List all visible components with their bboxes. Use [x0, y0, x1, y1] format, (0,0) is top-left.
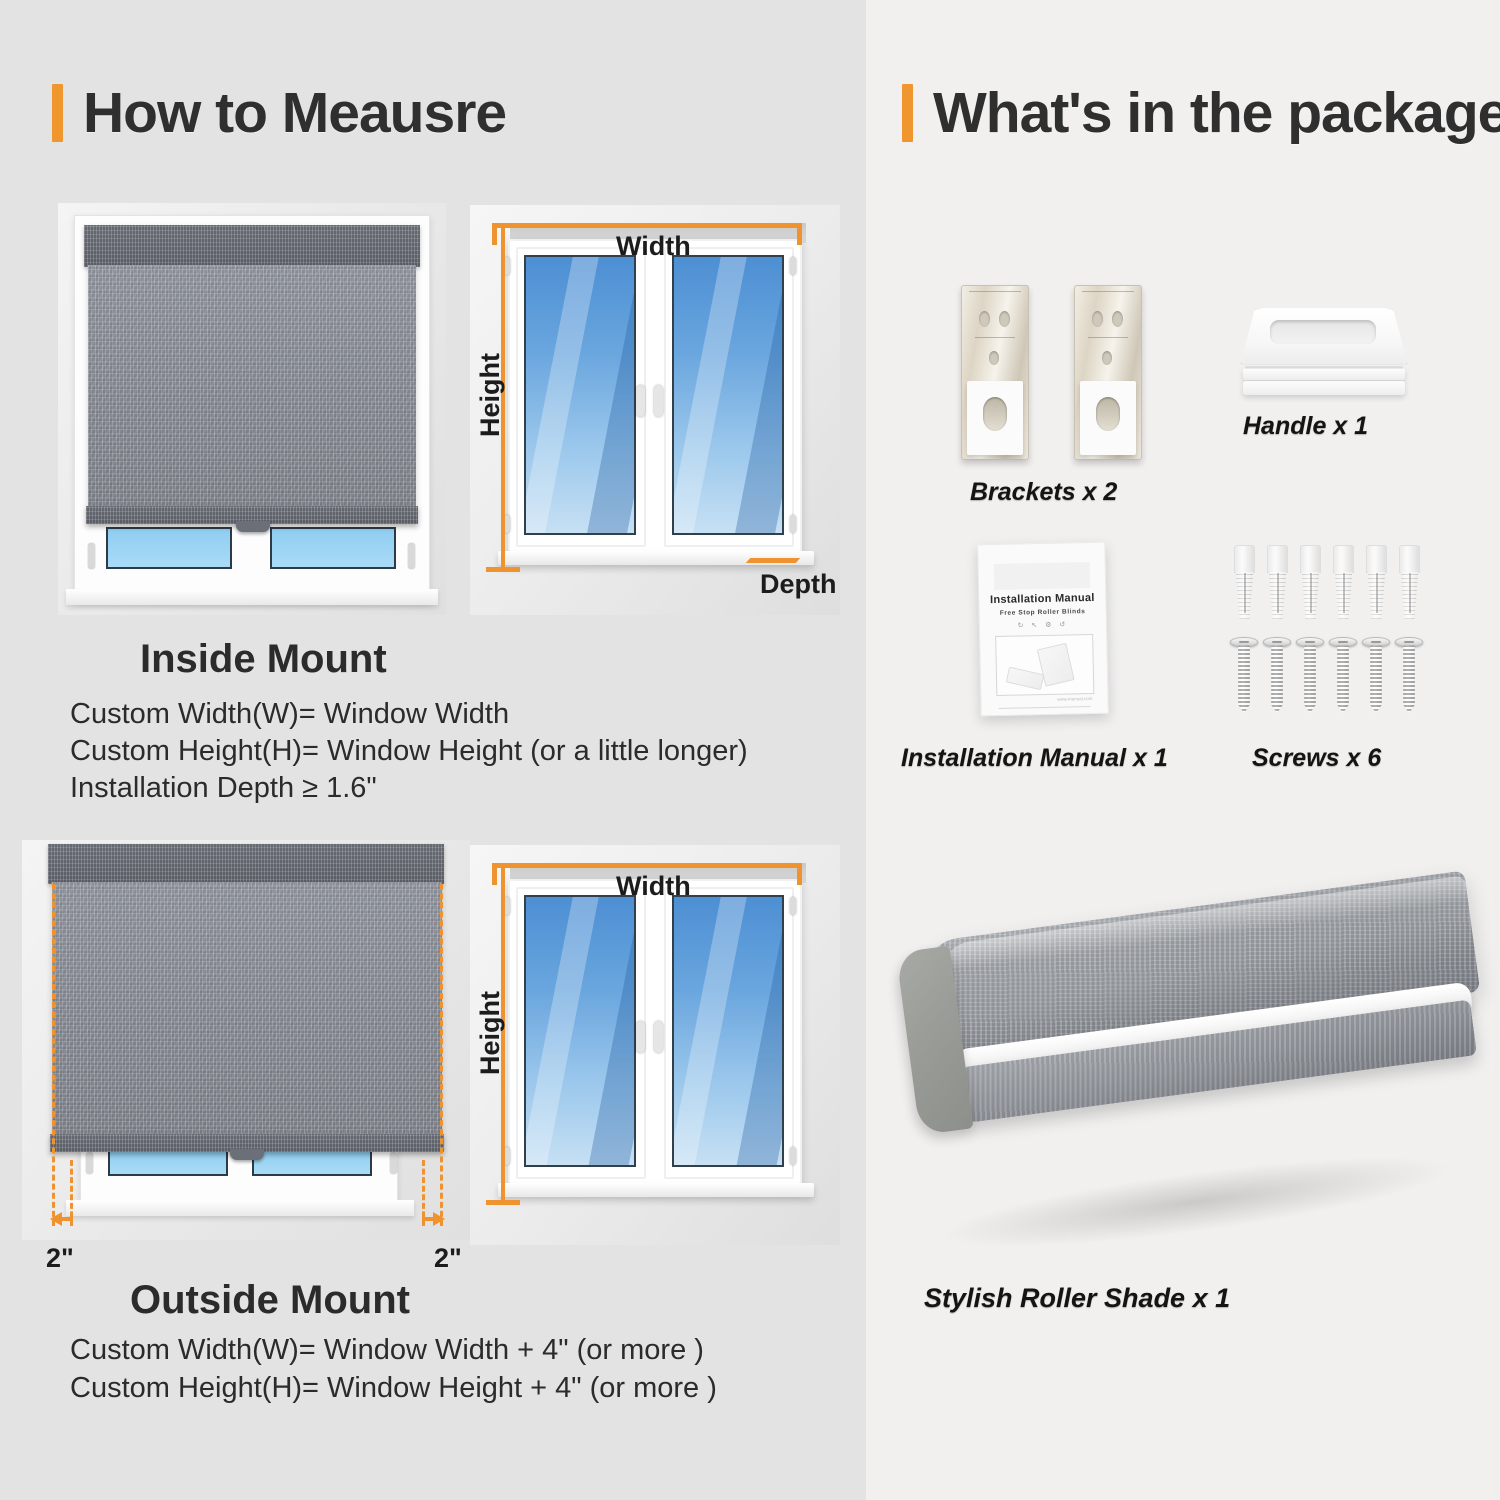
- roller-shade-product: [896, 880, 1476, 1260]
- bracket-hole-2: [1112, 311, 1123, 327]
- manual-footer-rule: [999, 706, 1091, 709]
- anchor-collar: [1234, 545, 1255, 573]
- height-label: Height: [475, 353, 506, 437]
- window-pane-left: [524, 895, 636, 1167]
- anchor-split-line: [1277, 573, 1279, 613]
- height-measure-tick-bottom: [486, 567, 520, 572]
- screw-slot: [1404, 641, 1415, 643]
- screw-1: [1235, 637, 1253, 713]
- wall-anchor-5: [1366, 545, 1387, 619]
- width-label: Width: [616, 231, 691, 262]
- installation-manual-label: Installation Manual x 1: [901, 744, 1168, 773]
- overhang-dash-right-outer: [440, 884, 443, 1226]
- outside-mount-illustration: [22, 840, 470, 1240]
- brackets-label: Brackets x 2: [970, 478, 1117, 507]
- infographic-stage: How to Meausre: [0, 0, 1500, 1500]
- anchor-collar: [1267, 545, 1288, 573]
- width-measure-line: [492, 223, 802, 228]
- screws-label: Screws x 6: [1252, 744, 1381, 773]
- handle-part: [1240, 308, 1408, 396]
- handle-base-upper: [1243, 368, 1404, 380]
- bracket-fold-line: [1088, 337, 1128, 338]
- roller-shade-label: Stylish Roller Shade x 1: [924, 1283, 1230, 1314]
- window-handle-left-icon: [88, 543, 95, 569]
- width-measure-tick-left: [492, 863, 497, 885]
- manual-illustration-box: [995, 634, 1094, 696]
- glass-gloss: [524, 895, 601, 1167]
- glass-gloss: [672, 895, 749, 1167]
- package-heading-text: What's in the package: [933, 80, 1500, 146]
- glass-pane-right: [270, 527, 396, 569]
- handle-base-lower: [1243, 381, 1404, 395]
- shade-cassette: [48, 844, 444, 884]
- window-sill: [66, 589, 438, 605]
- window-handle-right-icon: [408, 543, 415, 569]
- width-measure-line: [492, 863, 802, 868]
- screw-5: [1367, 637, 1385, 713]
- screw-slot: [1272, 641, 1283, 643]
- bracket-hole-2: [999, 311, 1010, 327]
- screws-group: [1234, 545, 1432, 735]
- manual-sketch-hand: [1006, 667, 1045, 691]
- screw-3: [1301, 637, 1319, 713]
- screw-slot: [1371, 641, 1382, 643]
- wall-anchor-6: [1399, 545, 1420, 619]
- anchor-collar: [1333, 545, 1354, 573]
- handle-grip-slot: [1270, 320, 1376, 344]
- window-lever-left-icon: [636, 1021, 645, 1053]
- overhang-label-left: 2": [46, 1243, 74, 1274]
- outside-mount-line-1: Custom Width(W)= Window Width + 4" (or m…: [70, 1334, 704, 1367]
- window-pane-right: [672, 255, 784, 535]
- window-hinge-top-icon: [790, 257, 796, 275]
- package-contents-panel: What's in the package Brackets x 2: [866, 0, 1494, 1500]
- inside-mount-line-3: Installation Depth ≥ 1.6": [70, 772, 377, 805]
- window-hinge-top-icon: [790, 897, 796, 915]
- anchor-collar: [1300, 545, 1321, 573]
- glass-gloss: [672, 255, 749, 535]
- anchor-split-line: [1343, 573, 1345, 613]
- glass-pane-left: [106, 527, 232, 569]
- screw-slot: [1338, 641, 1349, 643]
- window-hinge-bottom-icon: [790, 1147, 796, 1165]
- bracket-key-slot: [1096, 397, 1120, 431]
- screw-shank: [1238, 645, 1250, 713]
- screw-shank: [1370, 645, 1382, 713]
- shade-cassette: [84, 225, 420, 267]
- width-measure-tick-right: [797, 223, 802, 245]
- width-measure-tick-left: [492, 223, 497, 245]
- manual-footer-note: www.manual.com: [980, 696, 1092, 703]
- window-lever-left-icon: [636, 385, 645, 417]
- tube-highlight: [941, 875, 1469, 972]
- window-handle-left-icon: [86, 1152, 93, 1174]
- bracket-part-2: [1074, 285, 1142, 460]
- shade-fabric: [52, 882, 442, 1138]
- manual-logo-block: [994, 562, 1091, 590]
- bracket-edge-line: [969, 291, 1021, 292]
- window-sill: [66, 1200, 414, 1216]
- overhang-dash-left-outer: [52, 884, 55, 1226]
- overhang-arrow-right-icon: [433, 1212, 445, 1226]
- depth-measure-line: [746, 558, 801, 563]
- glass-gloss: [524, 255, 601, 535]
- manual-subtitle: Free Stop Roller Blinds: [979, 608, 1107, 618]
- screw-shank: [1403, 645, 1415, 713]
- anchor-collar: [1366, 545, 1387, 573]
- inside-mount-line-2: Custom Height(H)= Window Height (or a li…: [70, 735, 748, 768]
- how-to-measure-heading-text: How to Meausre: [83, 80, 506, 146]
- bracket-key-slot: [983, 397, 1007, 431]
- inside-mount-measure-diagram: Width Height Depth: [470, 205, 840, 615]
- bracket-hole-1: [979, 311, 990, 327]
- how-to-measure-heading: How to Meausre: [52, 80, 506, 146]
- depth-label: Depth: [760, 569, 837, 600]
- shade-pull-tab: [230, 1149, 264, 1160]
- overhang-arrow-left-icon: [50, 1212, 62, 1226]
- installation-manual-part: Installation Manual Free Stop Roller Bli…: [977, 542, 1109, 717]
- anchor-collar: [1399, 545, 1420, 573]
- manual-icon-row: ↻ ↖ ⚙ ↺: [979, 620, 1107, 631]
- package-heading: What's in the package: [902, 80, 1500, 146]
- screw-shank: [1337, 645, 1349, 713]
- window-pane-left: [524, 255, 636, 535]
- shade-fabric: [88, 265, 416, 510]
- window-handle-right-icon: [390, 1152, 397, 1174]
- handle-groove: [1245, 366, 1403, 369]
- screw-6: [1400, 637, 1418, 713]
- screw-shank: [1304, 645, 1316, 713]
- window-sill: [498, 1183, 814, 1197]
- window-pane-right: [672, 895, 784, 1167]
- handle-label: Handle x 1: [1243, 412, 1368, 441]
- anchor-split-line: [1409, 573, 1411, 613]
- how-to-measure-panel: How to Meausre: [0, 0, 866, 1500]
- inside-mount-illustration: [58, 203, 446, 615]
- wall-anchor-3: [1300, 545, 1321, 619]
- accent-bar-icon: [902, 84, 913, 142]
- bracket-edge-line: [1082, 291, 1134, 292]
- anchor-split-line: [1376, 573, 1378, 613]
- screw-shank: [1271, 645, 1283, 713]
- product-shadow: [934, 1138, 1457, 1266]
- width-measure-tick-right: [797, 863, 802, 885]
- anchor-split-line: [1244, 573, 1246, 613]
- window-hinge-bottom-icon: [790, 515, 796, 533]
- screw-slot: [1239, 641, 1250, 643]
- bracket-hole-1: [1092, 311, 1103, 327]
- window-lever-right-icon: [654, 385, 663, 417]
- manual-title: Installation Manual: [978, 592, 1106, 607]
- anchor-split-line: [1310, 573, 1312, 613]
- bracket-part-1: [961, 285, 1029, 460]
- outside-mount-title: Outside Mount: [130, 1278, 410, 1323]
- height-label: Height: [475, 991, 506, 1075]
- screw-slot: [1305, 641, 1316, 643]
- overhang-label-right: 2": [434, 1243, 462, 1274]
- outside-mount-line-2: Custom Height(H)= Window Height + 4" (or…: [70, 1372, 717, 1405]
- accent-bar-icon: [52, 84, 63, 142]
- bracket-hole-3: [989, 351, 999, 365]
- screw-4: [1334, 637, 1352, 713]
- wall-anchor-2: [1267, 545, 1288, 619]
- inside-mount-line-1: Custom Width(W)= Window Width: [70, 698, 509, 731]
- shade-pull-tab: [236, 521, 270, 532]
- wall-anchor-4: [1333, 545, 1354, 619]
- window-lever-right-icon: [654, 1021, 663, 1053]
- screw-2: [1268, 637, 1286, 713]
- height-measure-tick-bottom: [486, 1200, 520, 1205]
- inside-mount-title: Inside Mount: [140, 637, 387, 682]
- outside-mount-measure-diagram: Width Height: [470, 845, 840, 1245]
- bracket-hole-3: [1102, 351, 1112, 365]
- width-label: Width: [616, 871, 691, 902]
- bracket-fold-line: [975, 337, 1015, 338]
- wall-anchor-1: [1234, 545, 1255, 619]
